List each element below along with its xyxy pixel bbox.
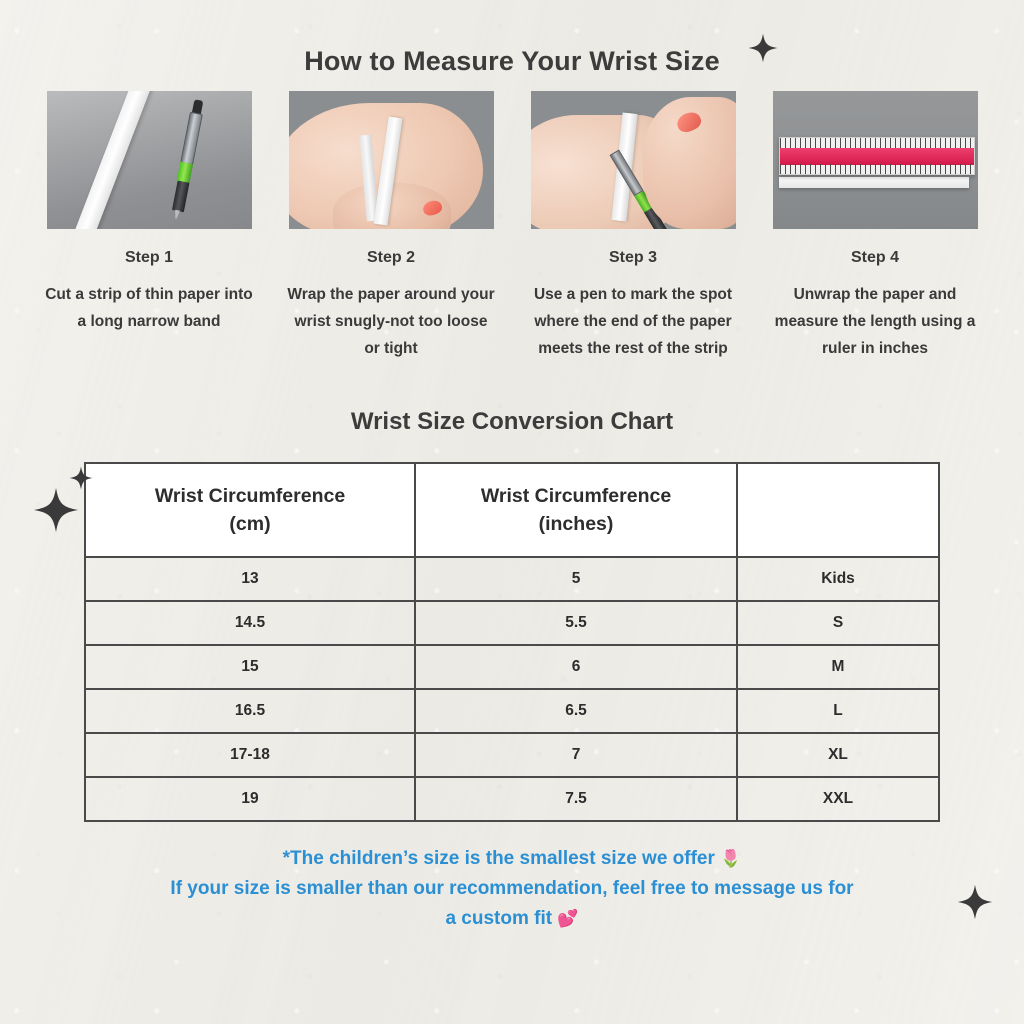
cell-inches: 5.5 bbox=[415, 601, 737, 645]
step-3-text: Use a pen to mark the spot where the end… bbox=[518, 281, 748, 362]
header-cell-inches: Wrist Circumference (inches) bbox=[415, 463, 737, 557]
chart-title: Wrist Size Conversion Chart bbox=[0, 408, 1024, 436]
page-title: How to Measure Your Wrist Size bbox=[0, 0, 1024, 77]
table-row: 19 7.5 XXL bbox=[85, 777, 939, 821]
cell-cm: 15 bbox=[85, 645, 415, 689]
ruler-shape bbox=[779, 137, 975, 175]
cell-inches: 6.5 bbox=[415, 689, 737, 733]
cell-size: L bbox=[737, 689, 939, 733]
step-1-text: Cut a strip of thin paper into a long na… bbox=[34, 281, 264, 335]
table-row: 14.5 5.5 S bbox=[85, 601, 939, 645]
paper-strip-shape bbox=[779, 177, 969, 188]
footer-note: *The children’s size is the smallest siz… bbox=[0, 844, 1024, 934]
step-1-photo bbox=[47, 91, 252, 229]
steps-row: Step 1 Cut a strip of thin paper into a … bbox=[0, 91, 1024, 362]
cell-inches: 6 bbox=[415, 645, 737, 689]
cell-inches: 5 bbox=[415, 557, 737, 601]
cell-size: S bbox=[737, 601, 939, 645]
table-row: 17-18 7 XL bbox=[85, 733, 939, 777]
tulip-icon: 🌷 bbox=[720, 849, 741, 868]
table-header-row: Wrist Circumference (cm) Wrist Circumfer… bbox=[85, 463, 939, 557]
footer-line-2: If your size is smaller than our recomme… bbox=[170, 878, 853, 899]
step-1-label: Step 1 bbox=[34, 249, 264, 267]
header-cell-size bbox=[737, 463, 939, 557]
cell-inches: 7 bbox=[415, 733, 737, 777]
step-2-text: Wrap the paper around your wrist snugly-… bbox=[276, 281, 506, 362]
step-3-label: Step 3 bbox=[518, 249, 748, 267]
header-inches-line2: (inches) bbox=[539, 513, 614, 535]
table-header: Wrist Circumference (cm) Wrist Circumfer… bbox=[85, 463, 939, 557]
footer-line-1: *The children’s size is the smallest siz… bbox=[283, 848, 715, 869]
hearts-icon: 💕 bbox=[557, 909, 578, 928]
step-card-2: Step 2 Wrap the paper around your wrist … bbox=[276, 91, 506, 362]
step-2-label: Step 2 bbox=[276, 249, 506, 267]
header-cm-line2: (cm) bbox=[229, 513, 270, 535]
table-row: 13 5 Kids bbox=[85, 557, 939, 601]
cell-inches: 7.5 bbox=[415, 777, 737, 821]
step-2-photo bbox=[289, 91, 494, 229]
table-body: 13 5 Kids 14.5 5.5 S 15 6 M 16.5 6.5 L 1… bbox=[85, 557, 939, 821]
step-card-4: Step 4 Unwrap the paper and measure the … bbox=[760, 91, 990, 362]
table-row: 15 6 M bbox=[85, 645, 939, 689]
footer-line-3: a custom fit bbox=[445, 908, 552, 929]
cell-size: XL bbox=[737, 733, 939, 777]
cell-cm: 19 bbox=[85, 777, 415, 821]
wrist-size-conversion-table: Wrist Circumference (cm) Wrist Circumfer… bbox=[84, 462, 940, 822]
cell-cm: 16.5 bbox=[85, 689, 415, 733]
step-4-photo bbox=[773, 91, 978, 229]
table-row: 16.5 6.5 L bbox=[85, 689, 939, 733]
header-inches-line1: Wrist Circumference bbox=[481, 485, 671, 507]
step-4-text: Unwrap the paper and measure the length … bbox=[760, 281, 990, 362]
cell-size: M bbox=[737, 645, 939, 689]
step-card-3: Step 3 Use a pen to mark the spot where … bbox=[518, 91, 748, 362]
cell-size: Kids bbox=[737, 557, 939, 601]
step-4-label: Step 4 bbox=[760, 249, 990, 267]
header-cm-line1: Wrist Circumference bbox=[155, 485, 345, 507]
header-cell-cm: Wrist Circumference (cm) bbox=[85, 463, 415, 557]
step-3-photo bbox=[531, 91, 736, 229]
cell-cm: 17-18 bbox=[85, 733, 415, 777]
cell-cm: 13 bbox=[85, 557, 415, 601]
cell-cm: 14.5 bbox=[85, 601, 415, 645]
cell-size: XXL bbox=[737, 777, 939, 821]
step-card-1: Step 1 Cut a strip of thin paper into a … bbox=[34, 91, 264, 362]
